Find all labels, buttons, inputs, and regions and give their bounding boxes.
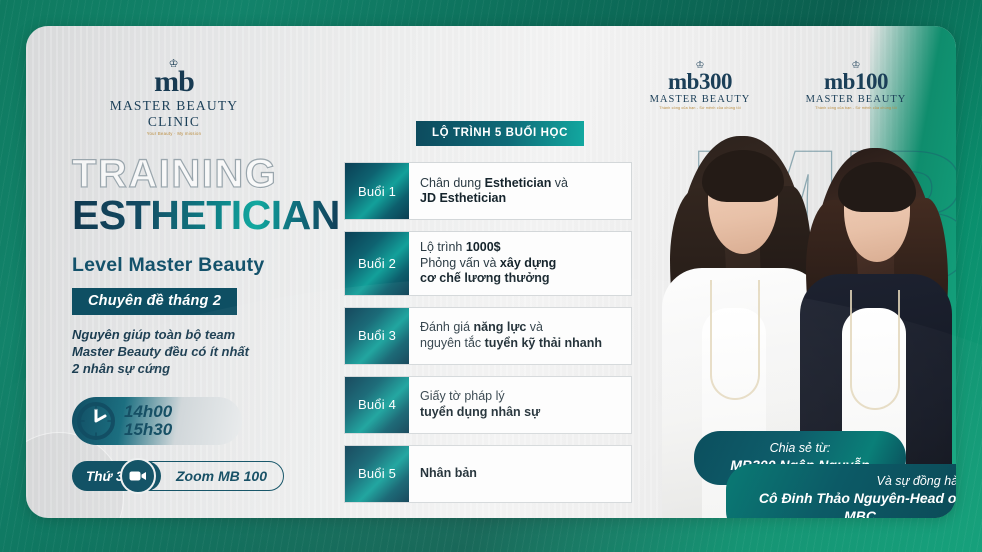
lesson-content: Giấy tờ pháp lýtuyển dụng nhân sự xyxy=(409,377,631,433)
lesson-text-bold: xây dựng xyxy=(500,256,556,270)
lesson-text-line: Phỏng vấn và xây dựng xyxy=(420,256,621,272)
lesson-label: Buổi 2 xyxy=(345,232,409,295)
description-line-1: Nguyên giúp toàn bộ team xyxy=(72,326,342,343)
lesson-text-bold: Nhân bản xyxy=(420,466,477,480)
lesson-text-line: Chân dung Esthetician và xyxy=(420,176,621,192)
camera-glyph xyxy=(129,470,147,482)
brand-logo: ♔ mb MASTER BEAUTY CLINIC Your Beauty · … xyxy=(84,60,264,136)
lesson-text-bold: 1000$ xyxy=(466,240,501,254)
lesson-text-line: Giấy tờ pháp lý xyxy=(420,389,621,405)
lesson-text-bold: Esthetician xyxy=(485,176,552,190)
lesson-text-line: Đánh giá năng lực và xyxy=(420,320,621,336)
title-esthetician: ESTHETICIAN xyxy=(72,192,342,238)
necklace-shape xyxy=(850,290,900,410)
caption-guest-label: Và sự đồng hành xyxy=(744,473,956,489)
lesson-text-normal: Chân dung xyxy=(420,176,485,190)
brand-tagline: Your Beauty · My mission xyxy=(84,131,264,136)
subtitle-level: Level Master Beauty xyxy=(72,254,342,277)
poster-root: ♔ mb MASTER BEAUTY CLINIC Your Beauty · … xyxy=(0,0,982,552)
lesson-label: Buổi 1 xyxy=(345,163,409,219)
lesson-list: Buổi 1Chân dung Esthetician vàJD Estheti… xyxy=(344,162,632,514)
description-line-3: 2 nhân sự cứng xyxy=(72,360,342,377)
left-column: TRAINING ESTHETICIAN Level Master Beauty… xyxy=(72,152,342,491)
lesson-row[interactable]: Buổi 1Chân dung Esthetician vàJD Estheti… xyxy=(344,162,632,220)
zoom-label: Zoom MB 100 xyxy=(176,468,267,484)
lesson-row[interactable]: Buổi 2Lộ trình 1000$Phỏng vấn và xây dựn… xyxy=(344,231,632,296)
lesson-text-bold: tuyển kỹ thải nhanh xyxy=(485,336,602,350)
time-start: 14h00 xyxy=(124,403,172,421)
lesson-text-normal: nguyên tắc xyxy=(420,336,485,350)
lesson-text-line: Nhân bản xyxy=(420,466,621,482)
title-training: TRAINING xyxy=(72,152,342,196)
lesson-text-normal: Phỏng vấn và xyxy=(420,256,500,270)
lesson-text-line: tuyển dụng nhân sự xyxy=(420,405,621,421)
time-values: 14h00 15h30 xyxy=(124,403,172,439)
lesson-text-bold: JD Esthetician xyxy=(420,191,506,205)
lesson-text-bold: cơ chế lương thưởng xyxy=(420,271,550,285)
necklace-shape xyxy=(710,280,760,400)
schedule-time-pill: 14h00 15h30 xyxy=(72,397,242,445)
caption-speaker-label: Chia sẻ từ: xyxy=(712,440,888,456)
lesson-text-line: cơ chế lương thưởng xyxy=(420,271,621,287)
lesson-content: Đánh giá năng lực vànguyên tắc tuyển kỹ … xyxy=(409,308,631,364)
lesson-content: Nhân bản xyxy=(409,446,631,502)
lesson-label: Buổi 4 xyxy=(345,377,409,433)
lesson-text-bold: năng lực xyxy=(474,320,527,334)
description-line-2: Master Beauty đều có ít nhất xyxy=(72,343,342,360)
lesson-text-normal: Đánh giá xyxy=(420,320,474,334)
route-tag: LỘ TRÌNH 5 BUỔI HỌC xyxy=(416,121,584,146)
lesson-row[interactable]: Buổi 4Giấy tờ pháp lýtuyển dụng nhân sự xyxy=(344,376,632,434)
video-camera-icon xyxy=(120,458,156,494)
lesson-text-line: JD Esthetician xyxy=(420,191,621,207)
lesson-label: Buổi 3 xyxy=(345,308,409,364)
month-topic-badge: Chuyên đề tháng 2 xyxy=(72,288,237,315)
brand-monogram: mb xyxy=(84,68,264,96)
clock-icon xyxy=(74,399,118,443)
lesson-label: Buổi 5 xyxy=(345,446,409,502)
lesson-text-bold: tuyển dụng nhân sự xyxy=(420,405,540,419)
lesson-text-normal: Giấy tờ pháp lý xyxy=(420,389,505,403)
lesson-text-normal: và xyxy=(526,320,543,334)
time-end: 15h30 xyxy=(124,421,172,439)
caption-guest-name: Cô Đinh Thảo Nguyên-Head of MBC xyxy=(744,489,956,518)
lesson-row[interactable]: Buổi 5Nhân bản xyxy=(344,445,632,503)
lesson-text-normal: và xyxy=(551,176,568,190)
lesson-content: Lộ trình 1000$Phỏng vấn và xây dựngcơ ch… xyxy=(409,232,631,295)
lesson-text-line: nguyên tắc tuyển kỹ thải nhanh xyxy=(420,336,621,352)
platform-row: Zoom MB 100 Thứ 3-5 xyxy=(72,461,284,491)
content-card: ♔ mb MASTER BEAUTY CLINIC Your Beauty · … xyxy=(26,26,956,518)
description-text: Nguyên giúp toàn bộ team Master Beauty đ… xyxy=(72,326,342,377)
lesson-content: Chân dung Esthetician vàJD Esthetician xyxy=(409,163,631,219)
caption-guest: Và sự đồng hành Cô Đinh Thảo Nguyên-Head… xyxy=(726,464,956,518)
lesson-text-normal: Lộ trình xyxy=(420,240,466,254)
brand-name: MASTER BEAUTY CLINIC xyxy=(84,98,264,130)
lesson-text-line: Lộ trình 1000$ xyxy=(420,240,621,256)
lesson-row[interactable]: Buổi 3Đánh giá năng lực vànguyên tắc tuy… xyxy=(344,307,632,365)
